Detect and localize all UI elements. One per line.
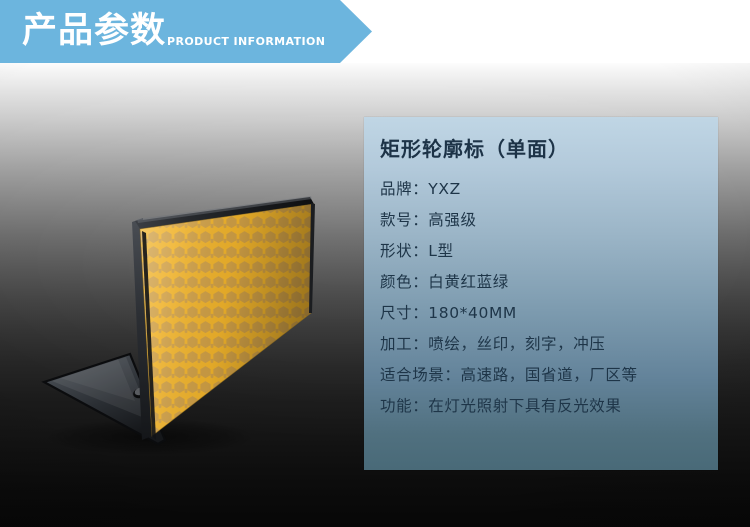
spec-item-size: 尺寸：180*40MM xyxy=(380,298,710,329)
spec-item-processing: 加工：喷绘，丝印，刻字，冲压 xyxy=(380,329,710,360)
page-header-banner: 产品参数 PRODUCT INFORMATION xyxy=(0,0,750,63)
banner-title-en: PRODUCT INFORMATION xyxy=(167,35,325,48)
product-information-banner-page: 产品参数 PRODUCT INFORMATION xyxy=(0,0,750,527)
spec-item-model: 款号：高强级 xyxy=(380,205,710,236)
spec-item-function: 功能：在灯光照射下具有反光效果 xyxy=(380,391,710,422)
spec-item-scenario: 适合场景：高速路，国省道，厂区等 xyxy=(380,360,710,391)
product-title: 矩形轮廓标（单面） xyxy=(380,133,569,162)
spec-item-brand: 品牌：YXZ xyxy=(380,174,710,205)
delineator-illustration xyxy=(30,185,330,460)
product-spec-list: 品牌：YXZ 款号：高强级 形状：L型 颜色：白黄红蓝绿 尺寸：180*40MM… xyxy=(380,174,710,422)
product-info-panel: 矩形轮廓标（单面） 品牌：YXZ 款号：高强级 形状：L型 颜色：白黄红蓝绿 尺… xyxy=(364,117,718,470)
product-photo xyxy=(30,185,330,460)
banner-title-cn: 产品参数 xyxy=(22,8,166,54)
spec-item-shape: 形状：L型 xyxy=(380,236,710,267)
spec-item-color: 颜色：白黄红蓝绿 xyxy=(380,267,710,298)
